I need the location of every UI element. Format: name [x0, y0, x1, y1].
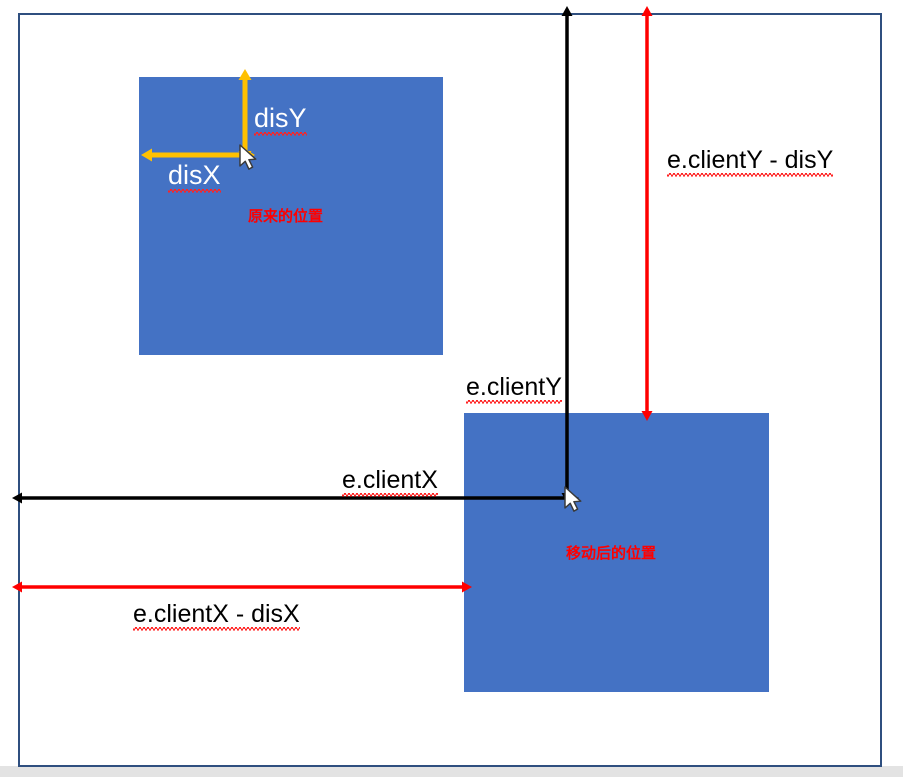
arrow-layer	[0, 0, 903, 777]
caption-moved-position: 移动后的位置	[566, 546, 656, 561]
label-disX: disX	[168, 162, 221, 189]
diagram-canvas: disY disX 原来的位置 移动后的位置 e.clientY e.clien…	[0, 0, 903, 777]
label-e-clientY-minus-disY: e.clientY - disY	[667, 148, 833, 173]
label-e-clientY: e.clientY	[466, 375, 562, 400]
label-e-clientX: e.clientX	[342, 468, 438, 493]
cursor-icon-original	[240, 145, 256, 169]
cursor-icon-moved	[565, 487, 581, 511]
caption-original-position: 原来的位置	[248, 209, 323, 224]
label-e-clientX-minus-disX: e.clientX - disX	[133, 602, 300, 627]
label-disY: disY	[254, 105, 307, 132]
